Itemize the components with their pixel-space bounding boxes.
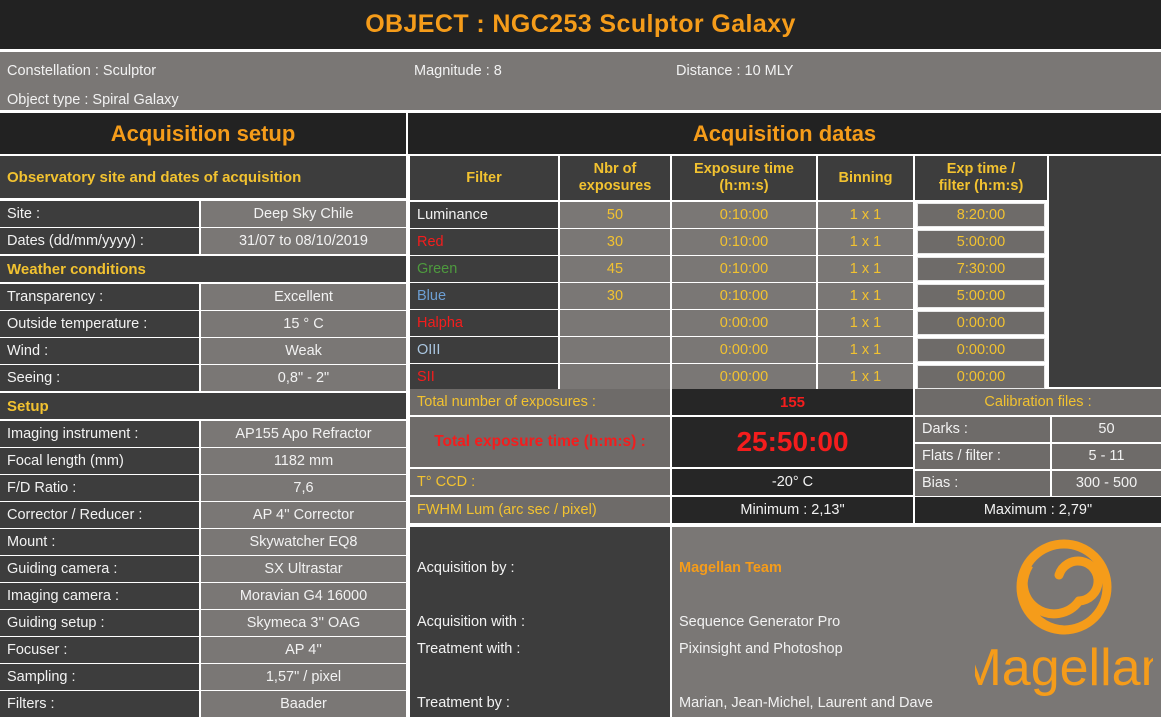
col-header-filter-label: Filter — [466, 170, 501, 187]
filter-exposure-cell: 0:10:00 — [672, 256, 816, 282]
filter-exp-total-cell: 7:30:00 — [917, 257, 1045, 281]
setup-row-value: Skywatcher EQ8 — [201, 529, 406, 555]
filter-exp-total-cell-text: 8:20:00 — [957, 208, 1005, 223]
filter-binning-cell-text: 1 x 1 — [850, 262, 881, 277]
filter-exp-total-cell: 0:00:00 — [917, 311, 1045, 335]
filter-exposure-cell: 0:10:00 — [672, 229, 816, 255]
acquisition-with-label: Acquisition with : — [417, 615, 525, 630]
total-time-label-cell: Total exposure time (h:m:s) : — [410, 417, 670, 467]
filter-name-cell-text: SII — [417, 370, 435, 385]
ccd-temp-value-cell: -20° C — [672, 469, 913, 495]
filter-exp-total-cell-text: 7:30:00 — [957, 262, 1005, 277]
col-header-binning-label: Binning — [839, 170, 893, 187]
total-time-label: Total exposure time (h:m:s) : — [434, 434, 646, 450]
filter-binning-cell: 1 x 1 — [818, 202, 913, 228]
acquisition-with-value: Sequence Generator Pro — [679, 615, 840, 630]
ccd-temp-label-cell: T° CCD : — [410, 469, 670, 495]
setup-row-value: 7,6 — [201, 475, 406, 501]
wind-value: Weak — [285, 344, 322, 359]
filter-exposure-cell: 0:00:00 — [672, 364, 816, 390]
object-info-strip: Constellation : Sculptor Magnitude : 8 D… — [0, 52, 1161, 110]
darks-value-cell: 50 — [1052, 417, 1161, 442]
section-acquisition-datas: Acquisition datas — [408, 113, 1161, 154]
filter-exposure-cell-text: 0:10:00 — [720, 235, 768, 250]
weather-heading-label: Weather conditions — [7, 261, 146, 278]
filter-exp-total-cell-text: 0:00:00 — [957, 316, 1005, 331]
info-distance: Distance : 10 MLY — [676, 63, 793, 79]
setup-row-value: Baader — [201, 691, 406, 717]
col-header-nbr-exposures: Nbr of exposures — [560, 156, 670, 200]
object-title-bar: OBJECT : NGC253 Sculptor Galaxy — [0, 0, 1161, 49]
setup-row-value: Moravian G4 16000 — [201, 583, 406, 609]
setup-row-label: Mount : — [0, 529, 199, 555]
filter-table-empty-pane — [1049, 156, 1161, 387]
setup-value-text: Moravian G4 16000 — [240, 589, 367, 604]
filter-binning-cell: 1 x 1 — [818, 364, 913, 390]
setup-row-label: Guiding setup : — [0, 610, 199, 636]
filter-nbr-cell — [560, 364, 670, 390]
row-dates-value: 31/07 to 08/10/2019 — [201, 228, 406, 254]
bias-value: 300 - 500 — [1076, 476, 1137, 491]
filter-binning-cell: 1 x 1 — [818, 229, 913, 255]
calibration-heading-label: Calibration files : — [984, 395, 1091, 410]
total-exposures-label-cell: Total number of exposures : — [410, 389, 670, 415]
setup-heading: Setup — [0, 393, 406, 419]
filter-nbr-cell: 45 — [560, 256, 670, 282]
col-header-exposure-line2: (h:m:s) — [719, 178, 768, 195]
filter-name-cell: Red — [410, 229, 558, 255]
filter-nbr-cell — [560, 337, 670, 363]
fwhm-label: FWHM Lum (arc sec / pixel) — [417, 503, 597, 518]
observatory-heading-label: Observatory site and dates of acquisitio… — [7, 169, 301, 186]
setup-value-text: AP 4'' — [285, 643, 322, 658]
total-exposures-label: Total number of exposures : — [417, 395, 596, 410]
fwhm-label-cell: FWHM Lum (arc sec / pixel) — [410, 497, 670, 523]
filter-binning-cell: 1 x 1 — [818, 310, 913, 336]
row-wind-value: Weak — [201, 338, 406, 364]
filter-exposure-cell-text: 0:00:00 — [720, 343, 768, 358]
setup-row-value: 1182 mm — [201, 448, 406, 474]
flats-value: 5 - 11 — [1088, 449, 1124, 464]
col-header-expfilter-line1: Exp time / — [947, 161, 1016, 178]
setup-row-label: Focal length (mm) — [0, 448, 199, 474]
setup-value-text: Skymeca 3'' OAG — [247, 616, 361, 631]
setup-row-label: Guiding camera : — [0, 556, 199, 582]
darks-label-cell: Darks : — [915, 417, 1050, 442]
filter-exp-total-cell: 0:00:00 — [917, 365, 1045, 389]
filter-nbr-cell-text: 50 — [607, 208, 623, 223]
row-seeing-label: Seeing : — [0, 365, 199, 391]
filter-name-cell: Halpha — [410, 310, 558, 336]
treatment-with-value: Pixinsight and Photoshop — [679, 642, 843, 657]
filter-exposure-cell: 0:00:00 — [672, 310, 816, 336]
acquisition-with-value-cell: Sequence Generator Pro — [672, 611, 972, 633]
acquisition-with-label-cell: Acquisition with : — [410, 611, 670, 633]
setup-label-text: F/D Ratio : — [7, 481, 76, 496]
col-header-exposure-time: Exposure time (h:m:s) — [672, 156, 816, 200]
filter-exposure-cell: 0:10:00 — [672, 283, 816, 309]
filter-exposure-cell-text: 0:00:00 — [720, 316, 768, 331]
transparency-value: Excellent — [274, 290, 333, 305]
filter-exposure-cell-text: 0:10:00 — [720, 289, 768, 304]
filter-nbr-cell: 30 — [560, 283, 670, 309]
setup-row-value: AP 4'' Corrector — [201, 502, 406, 528]
setup-value-text: AP155 Apo Refractor — [235, 427, 371, 442]
total-time-value: 25:50:00 — [736, 428, 848, 456]
calibration-heading-cell: Calibration files : — [915, 389, 1161, 415]
setup-row-value: AP 4'' — [201, 637, 406, 663]
col-header-exposure-line1: Exposure time — [694, 161, 794, 178]
filter-name-cell: Blue — [410, 283, 558, 309]
setup-label-text: Focuser : — [7, 643, 67, 658]
filter-exposure-cell-text: 0:10:00 — [720, 208, 768, 223]
filter-nbr-cell — [560, 310, 670, 336]
treatment-by-label-cell: Treatment by : — [410, 692, 670, 714]
row-site-value: Deep Sky Chile — [201, 201, 406, 227]
acquisition-by-value: Magellan Team — [679, 561, 782, 576]
wind-label: Wind : — [7, 344, 48, 359]
setup-value-text: SX Ultrastar — [264, 562, 342, 577]
treatment-with-label: Treatment with : — [417, 642, 520, 657]
setup-value-text: 7,6 — [293, 481, 313, 496]
setup-label-text: Mount : — [7, 535, 55, 550]
filter-nbr-cell: 30 — [560, 229, 670, 255]
treatment-by-label: Treatment by : — [417, 696, 510, 711]
setup-row-value: Skymeca 3'' OAG — [201, 610, 406, 636]
setup-heading-label: Setup — [7, 398, 49, 415]
dates-label: Dates (dd/mm/yyyy) : — [7, 234, 144, 249]
filter-exp-total-cell-text: 0:00:00 — [957, 370, 1005, 385]
filter-name-cell-text: Red — [417, 235, 444, 250]
filter-exp-total-cell-text: 5:00:00 — [957, 235, 1005, 250]
filter-binning-cell-text: 1 x 1 — [850, 289, 881, 304]
row-seeing-value: 0,8" - 2" — [201, 365, 406, 391]
filter-nbr-cell-text: 45 — [607, 262, 623, 277]
outside-temperature-value: 15 ° C — [283, 317, 323, 332]
col-header-exp-time-filter: Exp time / filter (h:m:s) — [915, 156, 1047, 200]
row-transparency-value: Excellent — [201, 284, 406, 310]
row-outside-temperature-value: 15 ° C — [201, 311, 406, 337]
section-acquisition-setup-label: Acquisition setup — [111, 121, 296, 147]
setup-row-label: Corrector / Reducer : — [0, 502, 199, 528]
section-acquisition-setup: Acquisition setup — [0, 113, 406, 154]
filter-name-cell-text: Halpha — [417, 316, 463, 331]
setup-row-value: 1,57" / pixel — [201, 664, 406, 690]
filter-exposure-cell-text: 0:10:00 — [720, 262, 768, 277]
col-header-nbr-line1: Nbr of — [594, 161, 637, 178]
seeing-label: Seeing : — [7, 371, 60, 386]
darks-label: Darks : — [922, 422, 968, 437]
filter-binning-cell-text: 1 x 1 — [850, 235, 881, 250]
total-time-value-cell: 25:50:00 — [672, 417, 913, 467]
filter-exposure-cell-text: 0:00:00 — [720, 370, 768, 385]
fwhm-min-value: Minimum : 2,13" — [740, 503, 844, 518]
acquisition-by-label: Acquisition by : — [417, 561, 515, 576]
ccd-temp-label: T° CCD : — [417, 475, 475, 490]
setup-value-text: AP 4'' Corrector — [253, 508, 354, 523]
setup-label-text: Guiding camera : — [7, 562, 117, 577]
setup-row-label: Sampling : — [0, 664, 199, 690]
filter-exp-total-cell-text: 5:00:00 — [957, 289, 1005, 304]
setup-value-text: 1,57" / pixel — [266, 670, 341, 685]
info-constellation: Constellation : Sculptor — [7, 63, 156, 79]
filter-name-cell: Green — [410, 256, 558, 282]
filter-exp-total-cell: 5:00:00 — [917, 284, 1045, 308]
filter-binning-cell: 1 x 1 — [818, 256, 913, 282]
filter-binning-cell: 1 x 1 — [818, 283, 913, 309]
magellan-wordmark: Magellan — [975, 639, 1153, 697]
flats-value-cell: 5 - 11 — [1052, 444, 1161, 469]
filter-binning-cell-text: 1 x 1 — [850, 208, 881, 223]
setup-value-text: Skywatcher EQ8 — [250, 535, 358, 550]
filter-name-cell-text: Luminance — [417, 208, 488, 223]
dates-value: 31/07 to 08/10/2019 — [239, 234, 368, 249]
filter-exposure-cell: 0:10:00 — [672, 202, 816, 228]
setup-label-text: Guiding setup : — [7, 616, 105, 631]
setup-row-label: F/D Ratio : — [0, 475, 199, 501]
row-dates-label: Dates (dd/mm/yyyy) : — [0, 228, 199, 254]
total-exposures-value-cell: 155 — [672, 389, 913, 415]
filter-binning-cell-text: 1 x 1 — [850, 370, 881, 385]
filter-name-cell-text: Blue — [417, 289, 446, 304]
filter-nbr-cell-text: 30 — [607, 235, 623, 250]
magellan-logo: Magellan — [975, 535, 1153, 710]
info-object-type: Object type : Spiral Galaxy — [7, 92, 179, 108]
setup-row-label: Filters : — [0, 691, 199, 717]
fwhm-min-cell: Minimum : 2,13" — [672, 497, 913, 523]
outside-temperature-label: Outside temperature : — [7, 317, 147, 332]
row-site-label: Site : — [0, 201, 199, 227]
filter-exp-total-cell: 5:00:00 — [917, 230, 1045, 254]
row-wind-label: Wind : — [0, 338, 199, 364]
seeing-value: 0,8" - 2" — [278, 371, 329, 386]
weather-heading: Weather conditions — [0, 256, 406, 282]
filter-binning-cell-text: 1 x 1 — [850, 316, 881, 331]
setup-row-label: Imaging instrument : — [0, 421, 199, 447]
setup-label-text: Sampling : — [7, 670, 76, 685]
filter-binning-cell-text: 1 x 1 — [850, 343, 881, 358]
setup-label-text: Imaging instrument : — [7, 427, 138, 442]
filter-name-cell: Luminance — [410, 202, 558, 228]
observatory-heading: Observatory site and dates of acquisitio… — [0, 156, 406, 198]
setup-row-label: Focuser : — [0, 637, 199, 663]
filter-name-cell: SII — [410, 364, 558, 390]
filter-name-cell-text: OIII — [417, 343, 440, 358]
total-exposures-value: 155 — [780, 395, 805, 410]
filter-name-cell-text: Green — [417, 262, 457, 277]
filter-name-cell: OIII — [410, 337, 558, 363]
bias-label-cell: Bias : — [915, 471, 1050, 496]
col-header-nbr-line2: exposures — [579, 178, 652, 195]
col-header-filter: Filter — [410, 156, 558, 200]
acquisition-by-label-cell: Acquisition by : — [410, 557, 670, 579]
site-value: Deep Sky Chile — [254, 207, 354, 222]
filter-exp-total-cell-text: 0:00:00 — [957, 343, 1005, 358]
page-title: OBJECT : NGC253 Sculptor Galaxy — [365, 10, 796, 39]
filter-exposure-cell: 0:00:00 — [672, 337, 816, 363]
ccd-temp-value: -20° C — [772, 475, 813, 490]
filter-nbr-cell: 50 — [560, 202, 670, 228]
treatment-with-value-cell: Pixinsight and Photoshop — [672, 638, 972, 660]
treatment-with-label-cell: Treatment with : — [410, 638, 670, 660]
filter-exp-total-cell: 0:00:00 — [917, 338, 1045, 362]
filter-nbr-cell-text: 30 — [607, 289, 623, 304]
row-outside-temperature-label: Outside temperature : — [0, 311, 199, 337]
setup-value-text: Baader — [280, 697, 327, 712]
flats-label-cell: Flats / filter : — [915, 444, 1050, 469]
treatment-by-value: Marian, Jean-Michel, Laurent and Dave — [679, 696, 933, 711]
acquisition-info-sheet: OBJECT : NGC253 Sculptor Galaxy Constell… — [0, 0, 1161, 717]
flats-label: Flats / filter : — [922, 449, 1001, 464]
acquisition-by-value-cell: Magellan Team — [672, 557, 972, 579]
darks-value: 50 — [1098, 422, 1114, 437]
bias-label: Bias : — [922, 476, 958, 491]
setup-label-text: Filters : — [7, 697, 55, 712]
col-header-binning: Binning — [818, 156, 913, 200]
fwhm-max-cell: Maximum : 2,79" — [915, 497, 1161, 523]
setup-label-text: Focal length (mm) — [7, 454, 124, 469]
setup-label-text: Corrector / Reducer : — [7, 508, 142, 523]
setup-row-label: Imaging camera : — [0, 583, 199, 609]
bias-value-cell: 300 - 500 — [1052, 471, 1161, 496]
spiral-galaxy-icon: Magellan — [975, 535, 1153, 710]
setup-row-value: SX Ultrastar — [201, 556, 406, 582]
filter-binning-cell: 1 x 1 — [818, 337, 913, 363]
section-acquisition-datas-label: Acquisition datas — [693, 121, 876, 147]
filter-exp-total-cell: 8:20:00 — [917, 203, 1045, 227]
setup-value-text: 1182 mm — [274, 454, 333, 469]
col-header-expfilter-line2: filter (h:m:s) — [939, 178, 1024, 195]
transparency-label: Transparency : — [7, 290, 103, 305]
setup-label-text: Imaging camera : — [7, 589, 119, 604]
setup-row-value: AP155 Apo Refractor — [201, 421, 406, 447]
row-transparency-label: Transparency : — [0, 284, 199, 310]
site-label: Site : — [7, 207, 40, 222]
fwhm-max-value: Maximum : 2,79" — [984, 503, 1092, 518]
info-magnitude: Magnitude : 8 — [414, 63, 502, 79]
